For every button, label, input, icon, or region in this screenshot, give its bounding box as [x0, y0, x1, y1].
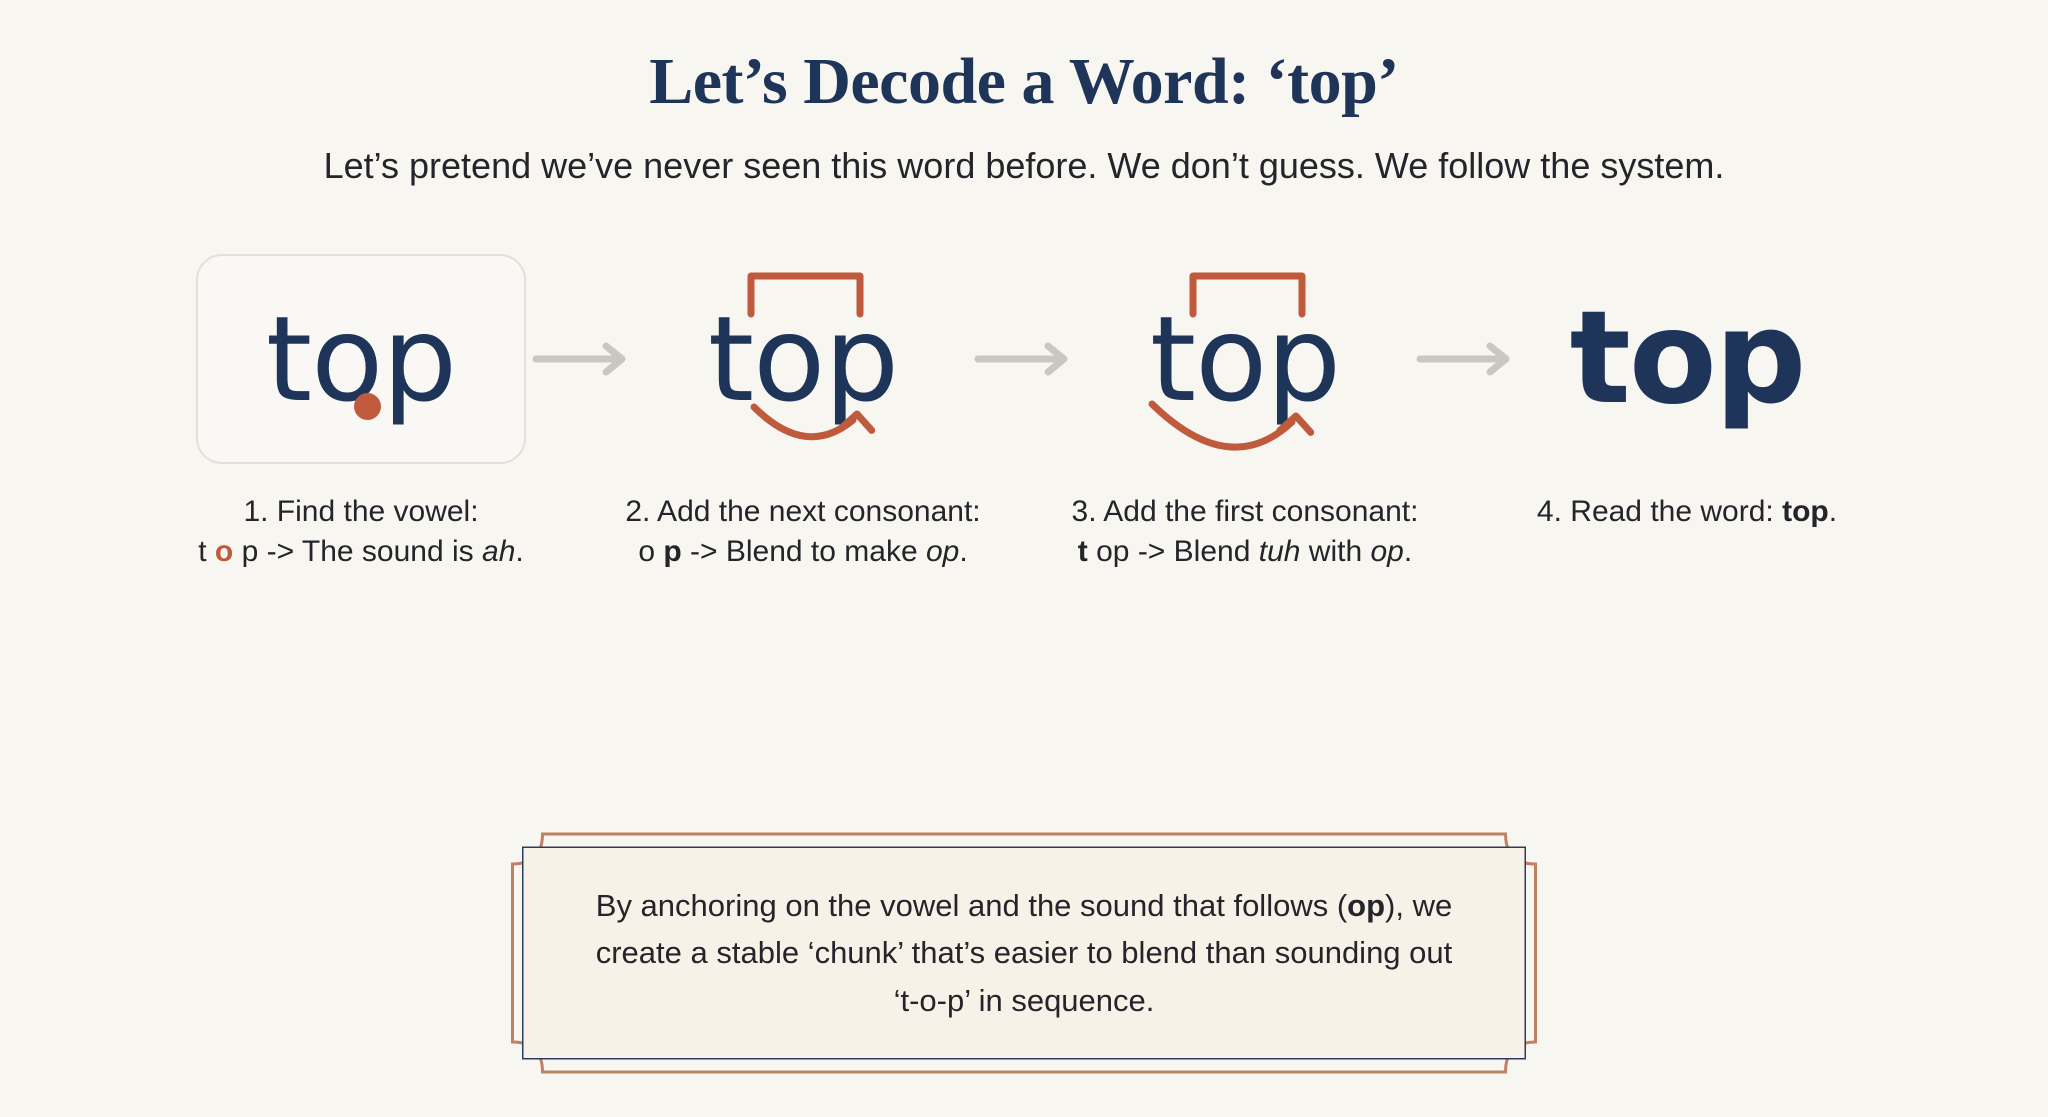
step-2-caption-line1: 2. Add the next consonant:: [625, 495, 980, 528]
step-card-2: top 2. Add the next consonant: o p -> Bl…: [638, 254, 968, 572]
step-3-caption-post: .: [1404, 535, 1412, 568]
step-3-caption-line2: t op -> Blend tuh with op.: [1045, 532, 1445, 572]
step-3-caption-mid: op -> Blend: [1088, 535, 1259, 568]
step-4-caption: 4. Read the word: top.: [1487, 492, 1887, 532]
step-card-3: top 3. Add the first consonant: t op -> …: [1080, 254, 1410, 572]
step-3-caption-sound: tuh: [1259, 535, 1301, 568]
step-3-caption: 3. Add the first consonant: t op -> Blen…: [1045, 492, 1445, 572]
page-subtitle: Let’s pretend we’ve never seen this word…: [0, 143, 2048, 188]
step-2-word: top: [708, 300, 898, 418]
step-2-caption-line2: o p -> Blend to make op.: [603, 532, 1003, 572]
step-1-caption-vowel: o: [215, 535, 233, 568]
step-4-caption-word: top: [1782, 495, 1829, 528]
callout-line-2-pre: follows (: [1233, 888, 1347, 923]
step-2-glyph-area: top: [638, 254, 968, 464]
step-1-caption-mid: p -> The sound is: [233, 535, 482, 568]
callout-line-1: By anchoring on the vowel and the sound …: [596, 888, 1225, 923]
arrow-right-icon-1: [526, 254, 638, 464]
step-card-4: top 4. Read the word: top.: [1522, 254, 1852, 532]
decoding-steps-row: top 1. Find the vowel: t o p -> The soun…: [0, 254, 2048, 572]
step-1-caption-post: .: [515, 535, 523, 568]
step-3-caption-consonant: t: [1078, 535, 1088, 568]
step-2-caption-chunk: op: [926, 535, 959, 568]
arrow-right-icon-2: [968, 254, 1080, 464]
callout-chunk-highlight: op: [1347, 888, 1385, 923]
step-2-caption-mid: -> Blend to make: [682, 535, 926, 568]
step-2-caption-post: .: [959, 535, 967, 568]
step-1-caption-pre: t: [198, 535, 215, 568]
step-1-caption-sound: ah: [482, 535, 515, 568]
step-1-caption-line2: t o p -> The sound is ah.: [161, 532, 561, 572]
step-1-glyph-area: top: [196, 254, 526, 464]
insight-callout: By anchoring on the vowel and the sound …: [507, 828, 1542, 1078]
step-4-caption-post: .: [1829, 495, 1837, 528]
callout-body: By anchoring on the vowel and the sound …: [524, 848, 1525, 1058]
step-4-glyph-area: top: [1522, 254, 1852, 464]
step-1-caption-line1: 1. Find the vowel:: [243, 495, 478, 528]
step-2-caption-pre: o: [638, 535, 663, 568]
step-3-glyph-area: top: [1080, 254, 1410, 464]
page-title: Let’s Decode a Word: ‘top’: [0, 46, 2048, 117]
step-3-caption-chunk: op: [1370, 535, 1403, 568]
callout-text: By anchoring on the vowel and the sound …: [549, 882, 1499, 1023]
step-2-caption: 2. Add the next consonant: o p -> Blend …: [603, 492, 1003, 572]
step-3-word: top: [1150, 300, 1340, 418]
step-card-1: top 1. Find the vowel: t o p -> The soun…: [196, 254, 526, 572]
step-4-caption-line1: 4. Read the word:: [1537, 495, 1782, 528]
step-3-caption-line1: 3. Add the first consonant:: [1072, 495, 1419, 528]
step-2-caption-consonant: p: [663, 535, 681, 568]
step-4-word: top: [1570, 295, 1805, 423]
arrow-right-icon-3: [1410, 254, 1522, 464]
header: Let’s Decode a Word: ‘top’ Let’s pretend…: [0, 0, 2048, 188]
step-1-caption: 1. Find the vowel: t o p -> The sound is…: [161, 492, 561, 572]
step-3-caption-mid2: with: [1300, 535, 1370, 568]
